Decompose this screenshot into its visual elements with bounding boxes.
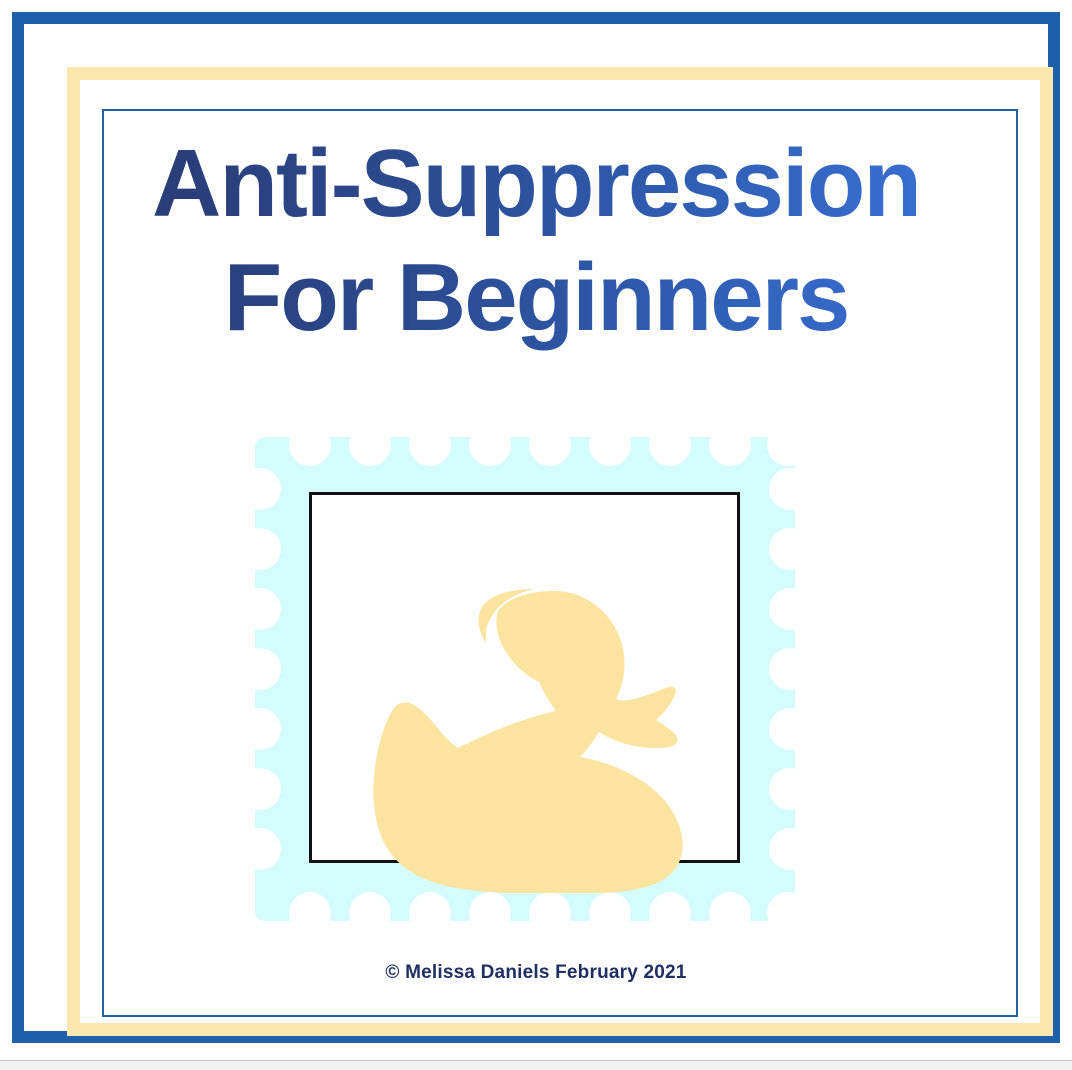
title-line-2: For Beginners: [100, 242, 972, 354]
postage-stamp-graphic: [255, 437, 795, 921]
page-title: Anti-Suppression For Beginners: [100, 128, 972, 354]
rubber-duck-icon: [358, 583, 698, 893]
copyright-text: © Melissa Daniels February 2021: [100, 962, 972, 984]
stamp-inner-panel: [309, 492, 740, 863]
slide-canvas: Anti-Suppression For Beginners: [0, 0, 1072, 1069]
title-line-1: Anti-Suppression: [100, 128, 972, 240]
